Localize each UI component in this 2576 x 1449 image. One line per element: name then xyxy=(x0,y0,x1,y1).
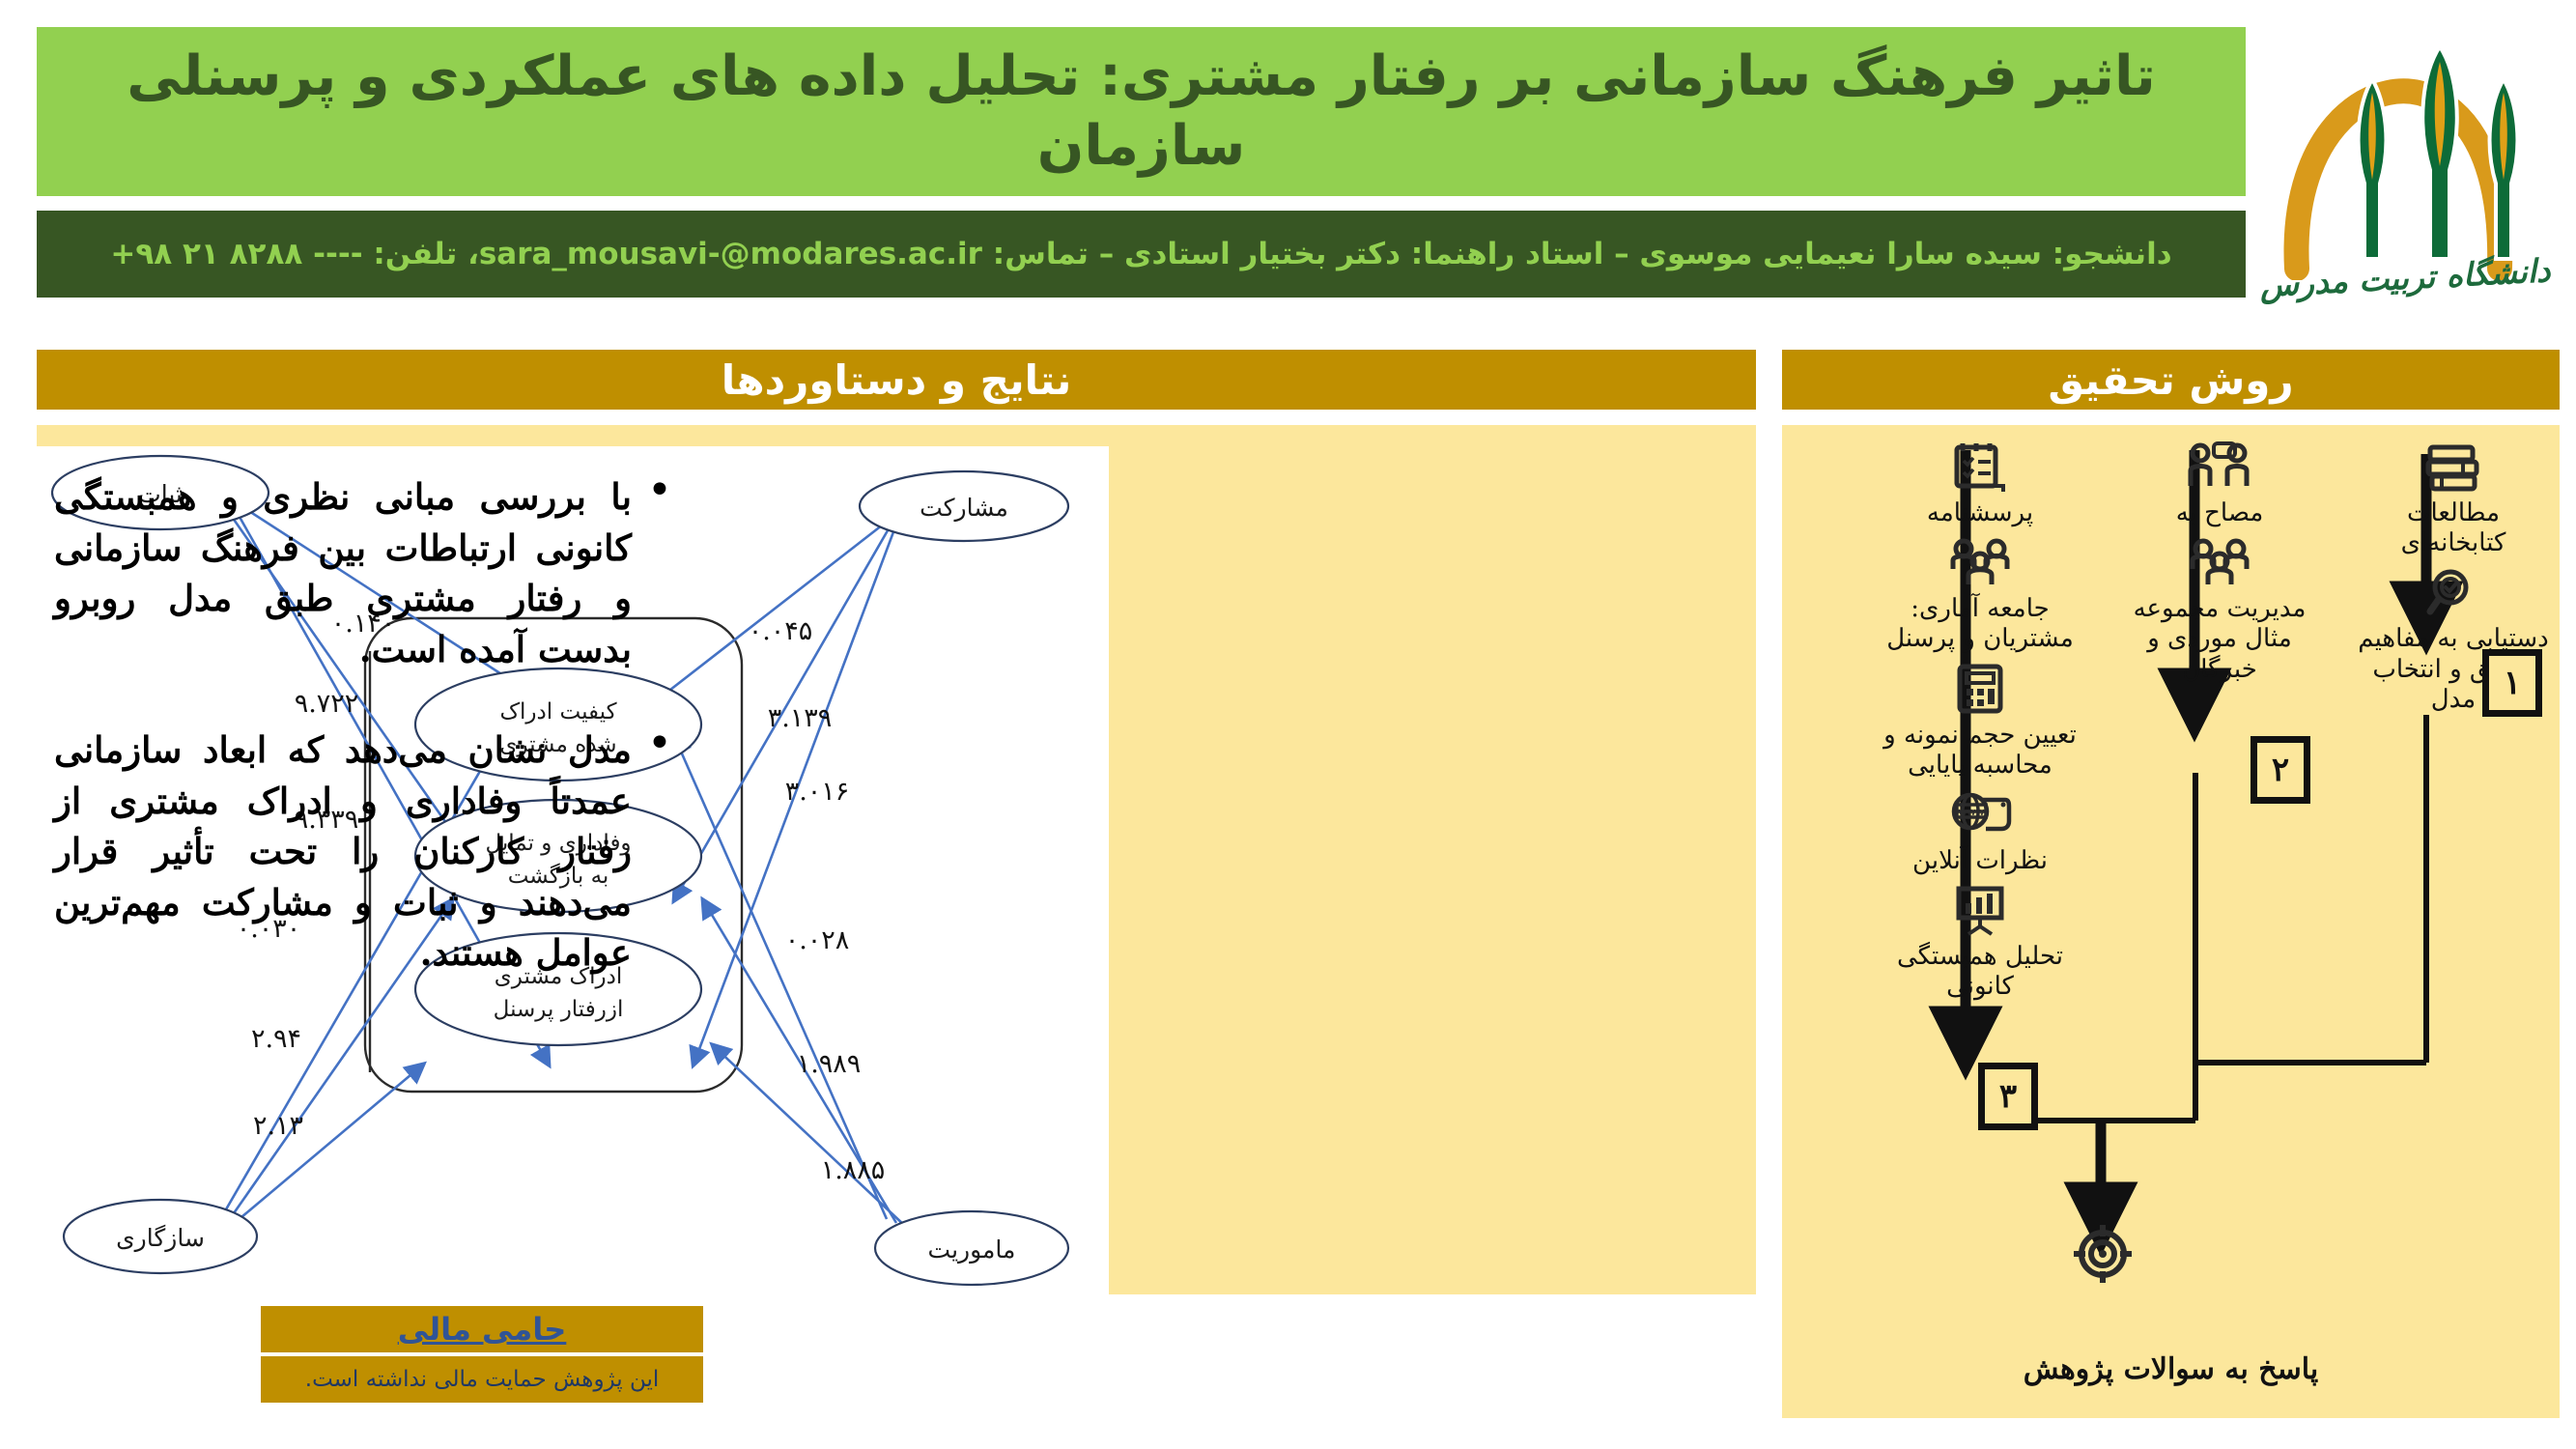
method-caption-3-4: نظرات آنلاین xyxy=(1883,846,2077,876)
method-caption-1-1: مطالعات کتابخانه‌ای xyxy=(2357,498,2550,558)
search-check-icon xyxy=(2357,562,2550,622)
bullet-dot-icon: • xyxy=(647,471,672,510)
sponsor-title: حامی مالی xyxy=(398,1311,567,1348)
node-label-mosharekat: مشارکت xyxy=(920,494,1008,523)
results-section-header: نتایج و دستاوردها xyxy=(37,350,1756,410)
node-label-mamooriat: ماموریت xyxy=(928,1236,1016,1264)
results-section-title: نتایج و دستاوردها xyxy=(722,356,1072,404)
edge-value-8: ۳.۰۱۶ xyxy=(785,777,850,807)
method-caption-3-2: جامعه آماری: مشتریان و پرسنل xyxy=(1883,594,2077,654)
method-column-3: پرسشنامه جامعه آماری: مشتریان و پرسنل xyxy=(1883,437,2077,1007)
method-caption-3-1: پرسشنامه xyxy=(1883,498,2077,528)
method-caption-2-2: مدیریت مجموعه مثال موردی و خبرگان xyxy=(2123,594,2316,685)
target-icon xyxy=(2072,1223,2134,1285)
sponsor-header: حامی مالی xyxy=(261,1306,703,1352)
questionnaire-icon xyxy=(1883,437,2077,497)
interview-icon xyxy=(2123,437,2316,497)
step-box-1: ۱ xyxy=(2482,649,2542,717)
method-caption-3-3: تعیین حجم نمونه و محاسبه پایایی xyxy=(1883,721,2077,781)
method-caption-3-5: تحلیل همبستگی کانونی xyxy=(1883,942,2077,1002)
step-box-2: ۲ xyxy=(2250,736,2310,804)
edge-value-10: ۱.۹۸۹ xyxy=(797,1049,862,1079)
edge-value-9: ۰.۰۲۸ xyxy=(785,925,850,955)
edge-value-6: ۰.۰۴۵ xyxy=(749,616,813,646)
calculator-icon xyxy=(1883,659,2077,719)
bullet-text-1: با بررسی مبانی نظری و همبستگی کانونی ارت… xyxy=(54,471,632,674)
author-banner: دانشجو: سیده سارا نعیمایی موسوی – استاد … xyxy=(37,211,2246,298)
method-panel: مطالعات کتابخانه‌ای دستیابی به مفاهیم تح… xyxy=(1782,425,2560,1418)
step-box-3: ۳ xyxy=(1978,1063,2038,1130)
list-item: • با بررسی مبانی نظری و همبستگی کانونی ا… xyxy=(54,471,672,674)
title-banner: تاثیر فرهنگ سازمانی بر رفتار مشتری: تحلی… xyxy=(37,27,2246,196)
method-section-header: روش تحقیق xyxy=(1782,350,2560,410)
edge-value-11: ۱.۸۸۵ xyxy=(821,1155,886,1185)
author-contact-line: دانشجو: سیده سارا نعیمایی موسوی – استاد … xyxy=(71,237,2210,271)
bullet-text-2: مدل نشان می‌دهد که ابعاد سازمانی عمدتاً … xyxy=(54,724,632,979)
node-mosharekat: مشارکت xyxy=(860,471,1068,541)
edge-value-5: ۲.۱۳ xyxy=(253,1111,303,1141)
node-mamooriat: ماموریت xyxy=(875,1211,1068,1285)
method-section-title: روش تحقیق xyxy=(2048,356,2293,404)
sponsor-note-bar: این پژوهش حمایت مالی نداشته است. xyxy=(261,1356,703,1403)
people-icon xyxy=(1883,532,2077,592)
online-globe-icon: www xyxy=(1883,784,2077,844)
method-column-2: مصاح به مدیریت مجموعه مثال موردی و خبرگا… xyxy=(2123,437,2316,689)
bullet-dot-icon: • xyxy=(647,724,672,763)
results-bullet-list: • با بررسی مبانی نظری و همبستگی کانونی ا… xyxy=(54,471,672,1029)
books-icon xyxy=(2357,437,2550,497)
node-label-sazgari: سازگاری xyxy=(116,1224,205,1253)
method-final-caption: پاسخ به سوالات پژوهش xyxy=(1782,1352,2560,1386)
node-sazgari: سازگاری xyxy=(64,1200,257,1273)
sponsor-note-text: این پژوهش حمایت مالی نداشته است. xyxy=(305,1367,659,1392)
chart-board-icon xyxy=(1883,880,2077,940)
method-caption-2-1: مصاح به xyxy=(2123,498,2316,528)
group-people-icon xyxy=(2123,532,2316,592)
edge-value-7: ۳.۱۳۹ xyxy=(768,703,833,733)
list-item: • مدل نشان می‌دهد که ابعاد سازمانی عمدتا… xyxy=(54,724,672,979)
results-panel: ثبات مشارکت سازگاری ماموریت کیفیت ادراک … xyxy=(37,425,1756,1294)
page-title: تاثیر فرهنگ سازمانی بر رفتار مشتری: تحلی… xyxy=(37,43,2246,181)
svg-text:www: www xyxy=(1959,806,1985,818)
